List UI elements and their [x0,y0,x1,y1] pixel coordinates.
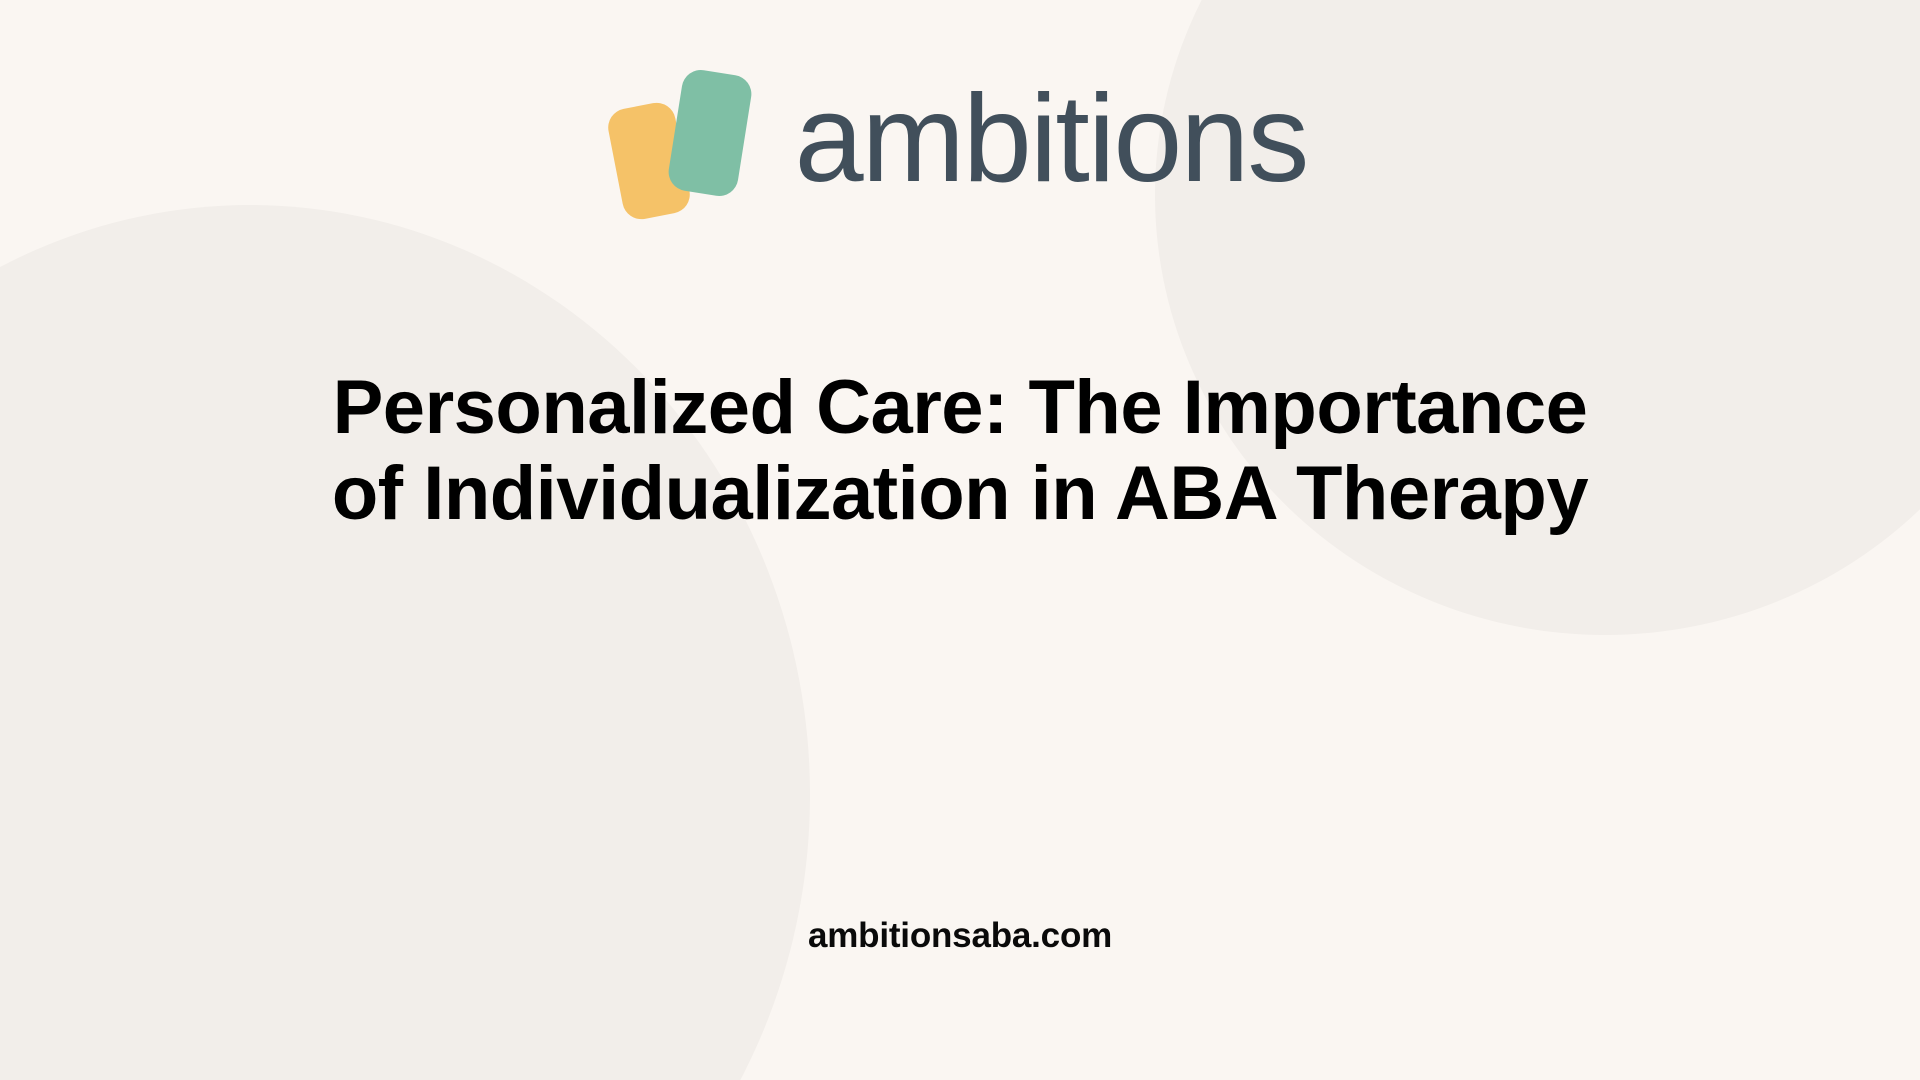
brand-wordmark: ambitions [795,77,1308,201]
social-share-card: ambitions Personalized Care: The Importa… [0,0,1920,1080]
site-url-label: ambitionsaba.com [260,916,1660,956]
page-title: Personalized Care: The Importance of Ind… [330,365,1590,537]
logo-bar-green-icon [666,67,754,198]
ambitions-logo-icon [613,67,761,219]
brand-lockup: ambitions [0,68,1920,218]
